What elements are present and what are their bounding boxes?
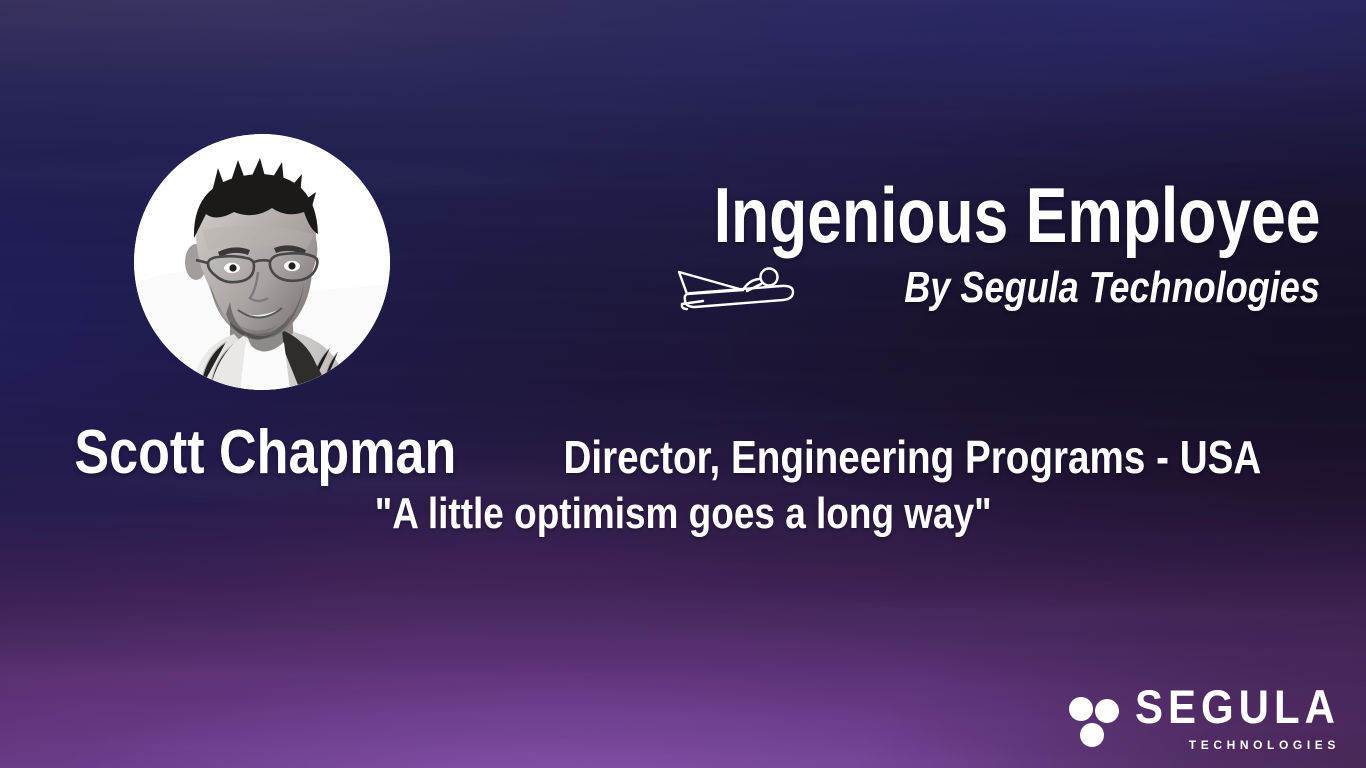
reclining-person-icon xyxy=(673,260,803,316)
segula-wordmark-group: SEGULA TECHNOLOGIES xyxy=(1135,689,1342,752)
segula-three-dots-icon xyxy=(1065,693,1121,749)
subtitle-row: By Segula Technologies xyxy=(560,260,1320,316)
segula-wordmark: SEGULA xyxy=(1135,684,1342,731)
ingenious-employee-slide: Ingenious Employee xyxy=(0,0,1366,768)
segula-logo: SEGULA TECHNOLOGIES xyxy=(1065,689,1342,752)
segula-tagline: TECHNOLOGIES xyxy=(1189,738,1342,752)
header-block: Ingenious Employee xyxy=(560,172,1320,316)
page-subtitle: By Segula Technologies xyxy=(904,263,1320,313)
background-vignette xyxy=(0,0,1366,768)
employee-role: Director, Engineering Programs - USA xyxy=(564,430,1262,484)
employee-name: Scott Chapman xyxy=(74,418,456,488)
employee-details-block: Scott Chapman Director, Engineering Prog… xyxy=(0,418,1366,540)
employee-quote: "A little optimism goes a long way" xyxy=(375,488,992,540)
page-title: Ingenious Employee xyxy=(713,172,1320,258)
employee-portrait-photo xyxy=(134,134,390,390)
